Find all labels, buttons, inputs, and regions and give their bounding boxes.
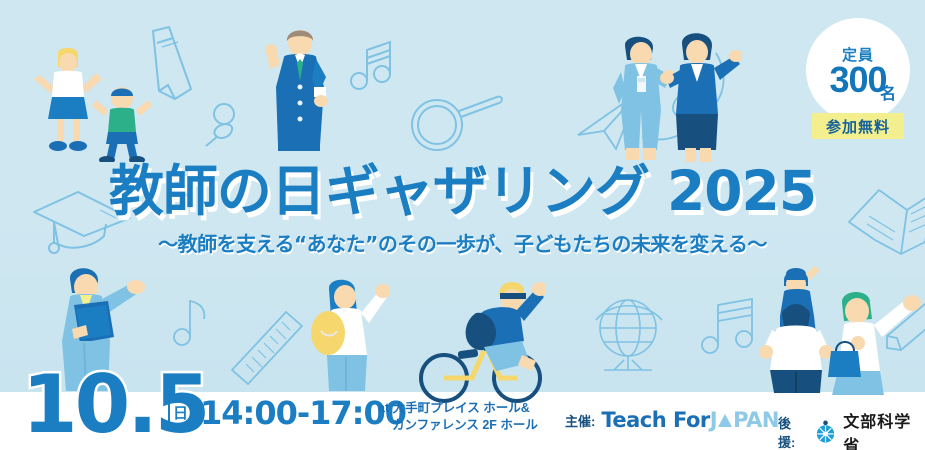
event-banner: 定員 300 名 参加無料 教師の日ギャザリング 2025 〜教師を支える“あな… [0, 0, 925, 450]
badge-capacity-unit: 名 [880, 80, 896, 104]
capacity-badge: 定員 300 名 参加無料 [806, 18, 910, 136]
badge-free-ribbon: 参加無料 [812, 113, 904, 139]
venue-line-2: カンファレンス 2F ホール [378, 417, 538, 434]
title-block: 教師の日ギャザリング 2025 〜教師を支える“あなた”のその一歩が、子どもたち… [0, 160, 925, 257]
page-title: 教師の日ギャザリング 2025 [0, 160, 925, 222]
page-subtitle: 〜教師を支える“あなた”のその一歩が、子どもたちの未来を変える〜 [0, 228, 925, 257]
venue-line-1: 大手町プレイス ホール& [393, 401, 530, 415]
support-block: 後援: 文部科学省 [778, 408, 925, 450]
tfj-text-j: J [710, 408, 717, 432]
support-name: 文部科学省 [843, 408, 925, 450]
badge-free-label: 参加無料 [826, 116, 890, 137]
event-weekday-box: 日 [168, 400, 193, 425]
venue-prefix: at [378, 401, 389, 415]
tfj-text-pan: PAN [733, 408, 779, 432]
mountain-icon [718, 414, 732, 427]
event-venue: at 大手町プレイス ホール& カンファレンス 2F ホール [378, 400, 538, 434]
mext-logo-icon [813, 419, 838, 445]
teach-for-japan-logo: Teach For JPAN [601, 408, 779, 432]
support-label: 後援: [778, 413, 807, 450]
host-block: 主催: Teach For JPAN [565, 408, 779, 432]
event-time: 14:00-17:00 [200, 396, 406, 430]
tfj-text-dark: Teach For [601, 408, 709, 432]
host-label: 主催: [565, 411, 595, 430]
